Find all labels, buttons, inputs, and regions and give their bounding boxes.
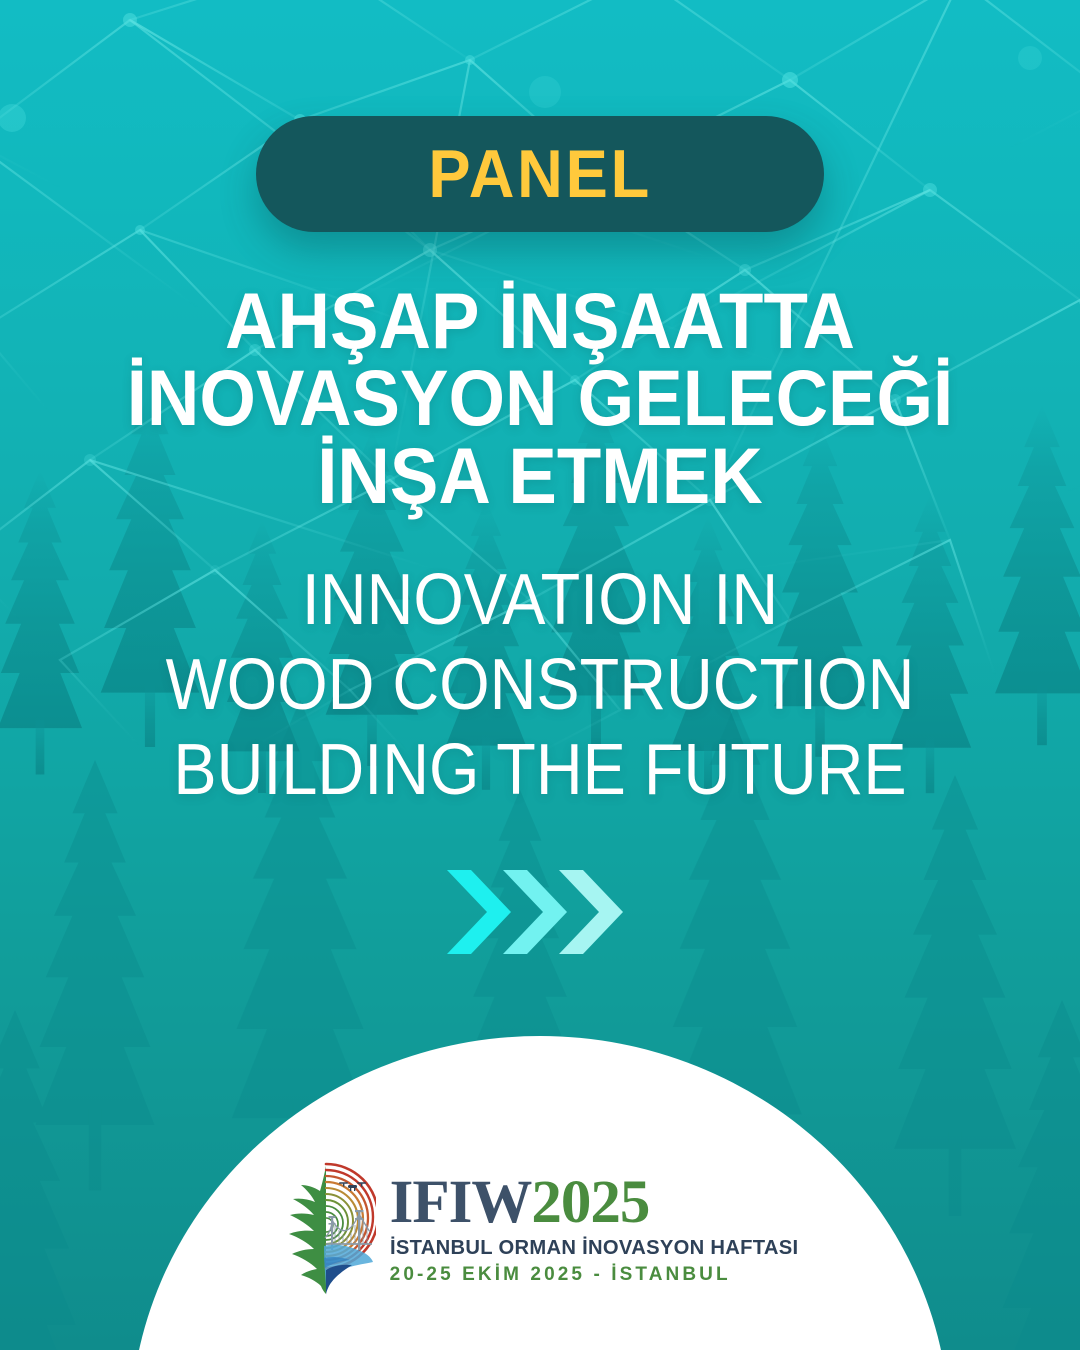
logo-wordmark: IFIW2025 — [390, 1172, 650, 1233]
subtitle-line-2: WOOD CONSTRUCTION — [54, 643, 1026, 728]
logo-text-group: IFIW2025 İSTANBUL ORMAN İNOVASYON HAFTAS… — [390, 1168, 805, 1286]
headline-line-2: İNOVASYON GELECEĞİ — [43, 359, 1037, 436]
logo-wordmark-ifiw: IFIW — [390, 1169, 532, 1236]
logo-wordmark-year: 2025 — [531, 1169, 649, 1236]
logo-lockup: IFIW2025 İSTANBUL ORMAN İNOVASYON HAFTAS… — [0, 1158, 1080, 1296]
bridge-icon — [325, 1210, 372, 1250]
poster-canvas: PANEL AHŞAP İNŞAATTA İNOVASYON GELECEĞİ … — [0, 0, 1080, 1350]
headline-line-3: İNŞA ETMEK — [43, 437, 1037, 514]
triple-chevron-right-icon — [445, 864, 635, 960]
panel-badge-label: PANEL — [428, 140, 652, 208]
drone-icon — [339, 1182, 366, 1191]
subtitle-line-1: INNOVATION IN — [54, 558, 1026, 643]
ifiw-leaf-bridge-mark-icon — [276, 1158, 376, 1296]
water-shape — [324, 1245, 373, 1295]
headline-turkish: AHŞAP İNŞAATTA İNOVASYON GELECEĞİ İNŞA E… — [0, 282, 1080, 514]
panel-badge: PANEL — [256, 116, 824, 232]
logo-dateline: 20-25 EKİM 2025 - İSTANBUL — [390, 1264, 731, 1286]
chevron-group — [0, 862, 1080, 962]
logo-tagline: İSTANBUL ORMAN İNOVASYON HAFTASI — [390, 1236, 798, 1260]
leaf-green-half — [289, 1166, 326, 1294]
headline-line-1: AHŞAP İNŞAATTA — [43, 282, 1037, 359]
subtitle-line-3: BUILDING THE FUTURE — [54, 728, 1026, 813]
subtitle-english: INNOVATION IN WOOD CONSTRUCTION BUILDING… — [0, 558, 1080, 813]
